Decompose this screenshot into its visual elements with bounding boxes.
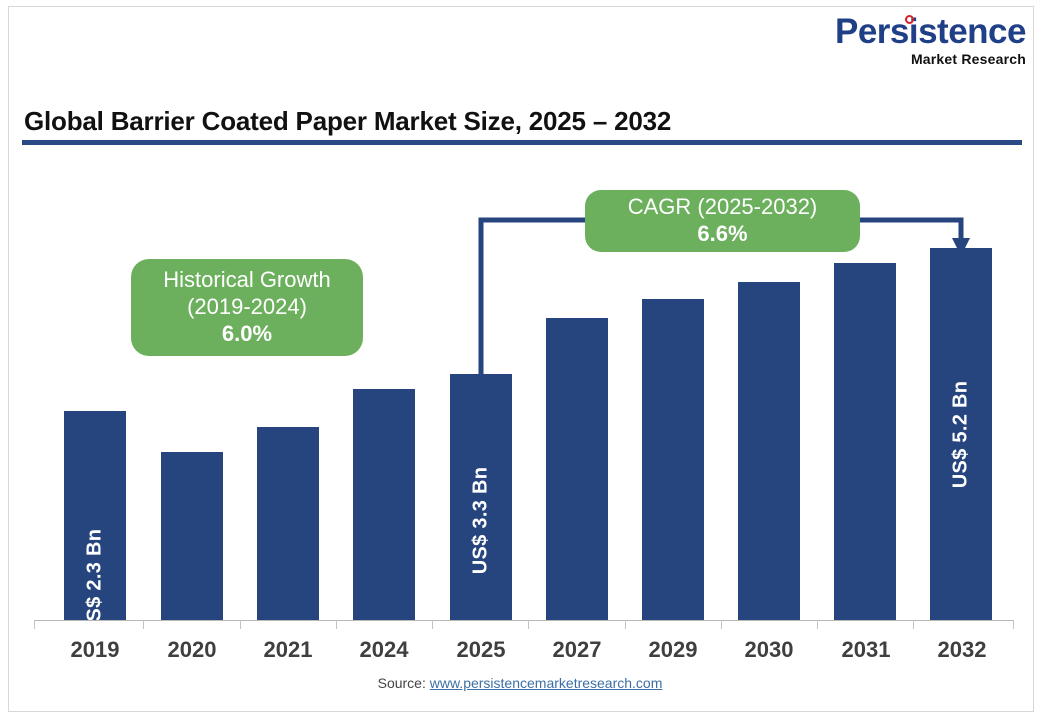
source-prefix: Source: [378, 675, 430, 691]
axis-tick [143, 620, 144, 629]
x-axis-label-2020: 2020 [143, 637, 241, 663]
source-caption: Source: www.persistencemarketresearch.co… [0, 675, 1040, 691]
chart-page: Persistence Market Research Global Barri… [0, 0, 1040, 720]
cagr-callout: CAGR (2025-2032) 6.6% [585, 190, 860, 252]
bar-2032: US$ 5.2 Bn [930, 248, 992, 620]
axis-tick [432, 620, 433, 629]
bar-2031 [834, 263, 896, 620]
x-axis-label-2025: 2025 [432, 637, 530, 663]
axis-tick [625, 620, 626, 629]
bar-value-label: US$ 5.2 Bn [950, 381, 973, 488]
cagr-line1: CAGR (2025-2032) [628, 194, 818, 221]
axis-tick [528, 620, 529, 629]
x-axis-line [34, 620, 1014, 621]
x-axis-label-2019: 2019 [46, 637, 144, 663]
x-axis-label-2029: 2029 [624, 637, 722, 663]
bar-2020 [161, 452, 223, 620]
historical-growth-line1: Historical Growth [163, 267, 330, 294]
bar-2027 [546, 318, 608, 620]
bar-value-label: US$ 3.3 Bn [470, 467, 493, 574]
historical-growth-line2: (2019-2024) [187, 294, 307, 321]
bar-2024 [353, 389, 415, 620]
historical-growth-value: 6.0% [222, 321, 272, 348]
x-axis-label-2021: 2021 [239, 637, 337, 663]
x-axis-label-2027: 2027 [528, 637, 626, 663]
historical-growth-callout: Historical Growth (2019-2024) 6.0% [131, 259, 363, 356]
axis-tick [1013, 620, 1014, 629]
x-axis-label-2032: 2032 [913, 637, 1011, 663]
x-axis-label-2024: 2024 [335, 637, 433, 663]
axis-tick [336, 620, 337, 629]
bar-chart: US$ 2.3 Bn US$ 3.3 Bn US$ 5.2 Bn 2019 20… [0, 0, 1040, 720]
axis-tick [913, 620, 914, 629]
source-link[interactable]: www.persistencemarketresearch.com [430, 675, 663, 691]
bar-2021 [257, 427, 319, 620]
axis-tick [817, 620, 818, 629]
axis-tick [721, 620, 722, 629]
x-axis-label-2030: 2030 [720, 637, 818, 663]
bar-2025: US$ 3.3 Bn [450, 374, 512, 620]
x-axis-label-2031: 2031 [817, 637, 915, 663]
bar-2019: US$ 2.3 Bn [64, 411, 126, 620]
bar-2030 [738, 282, 800, 620]
axis-tick [240, 620, 241, 629]
bar-2029 [642, 299, 704, 620]
axis-tick [34, 620, 35, 629]
cagr-value: 6.6% [697, 221, 747, 248]
